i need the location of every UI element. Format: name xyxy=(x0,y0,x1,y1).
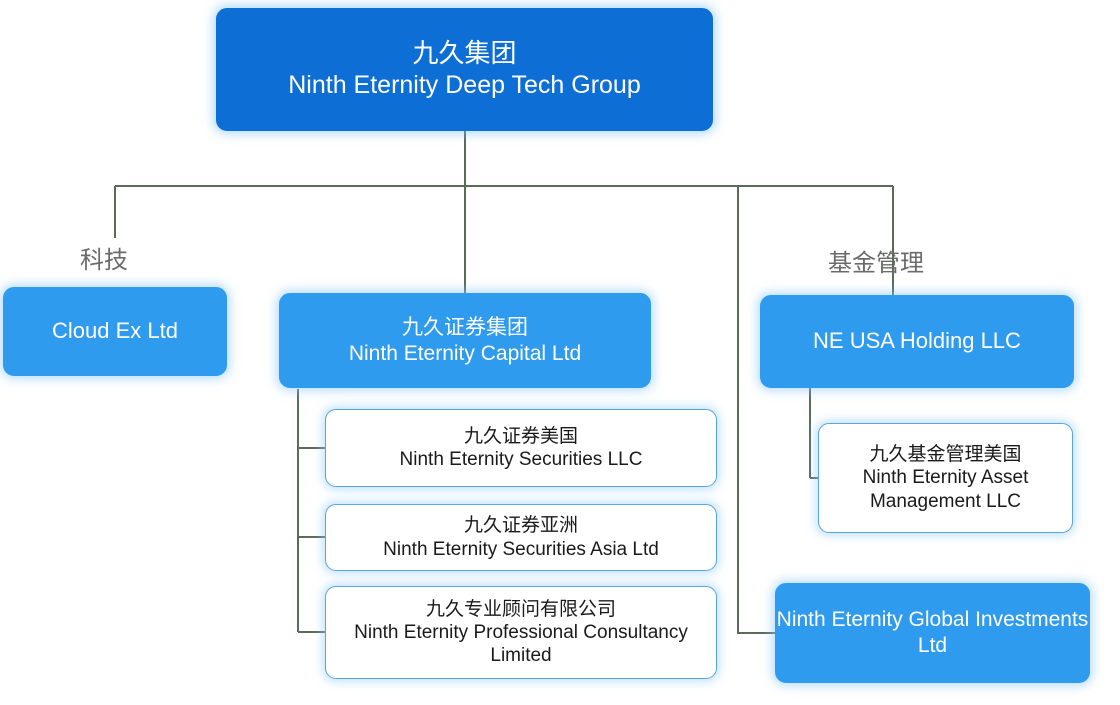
node-ninth-eternity-professional-consultancy-limited[interactable]: 九久专业顾问有限公司 Ninth Eternity Professional C… xyxy=(325,586,717,679)
node-root-ninth-eternity-deep-tech-group[interactable]: 九久集团 Ninth Eternity Deep Tech Group xyxy=(216,8,713,131)
caption-technology: 科技 xyxy=(80,240,128,275)
node-cloud-ex-ltd[interactable]: Cloud Ex Ltd xyxy=(3,287,227,376)
node-ninth-eternity-securities-asia-ltd[interactable]: 九久证券亚洲 Ninth Eternity Securities Asia Lt… xyxy=(325,504,717,571)
node-label-cn: 九久证券亚洲 xyxy=(464,514,578,537)
node-label-en: Cloud Ex Ltd xyxy=(52,318,178,345)
node-label-cn: 九久集团 xyxy=(412,38,516,70)
node-label-en: Ninth Eternity Global Investments Ltd xyxy=(776,607,1089,658)
org-chart: 科技 基金管理 九久集团 Ninth Eternity Deep Tech Gr… xyxy=(0,0,1120,705)
node-label-cn: 九久基金管理美国 xyxy=(869,443,1021,466)
node-label-en: Ninth Eternity Professional Consultancy … xyxy=(326,621,716,667)
caption-fund-management: 基金管理 xyxy=(828,243,924,278)
node-ninth-eternity-global-investments-ltd[interactable]: Ninth Eternity Global Investments Ltd xyxy=(775,583,1090,683)
node-ne-usa-holding-llc[interactable]: NE USA Holding LLC xyxy=(760,295,1074,388)
node-label-en: NE USA Holding LLC xyxy=(813,328,1021,355)
connector-drop-global-investments xyxy=(738,186,775,633)
node-label-en: Ninth Eternity Capital Ltd xyxy=(349,341,581,367)
node-label-en: Ninth Eternity Securities LLC xyxy=(400,448,643,471)
node-label-cn: 九久专业顾问有限公司 xyxy=(426,598,616,621)
node-ninth-eternity-capital-ltd[interactable]: 九久证券集团 Ninth Eternity Capital Ltd xyxy=(279,293,651,388)
node-ninth-eternity-asset-management-llc[interactable]: 九久基金管理美国 Ninth Eternity Asset Management… xyxy=(818,423,1073,533)
node-label-en: Ninth Eternity Deep Tech Group xyxy=(288,70,641,101)
node-label-cn: 九久证券集团 xyxy=(402,315,528,341)
node-ninth-eternity-securities-llc[interactable]: 九久证券美国 Ninth Eternity Securities LLC xyxy=(325,409,717,487)
node-label-en: Ninth Eternity Asset Management LLC xyxy=(819,466,1072,512)
node-label-en: Ninth Eternity Securities Asia Ltd xyxy=(383,538,659,561)
node-label-cn: 九久证券美国 xyxy=(464,425,578,448)
